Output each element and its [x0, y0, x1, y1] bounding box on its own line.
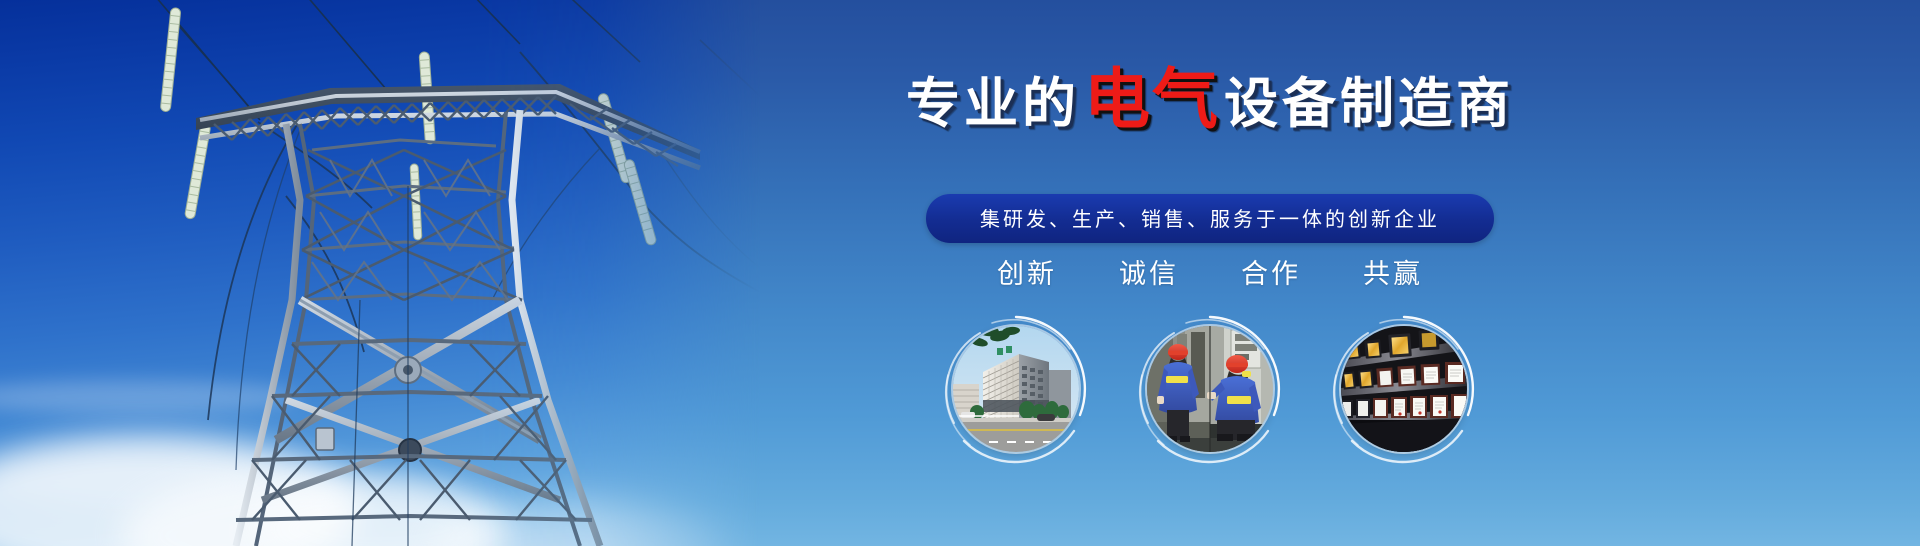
- subtitle-row: 集研发、生产、销售、服务于一体的创新企业: [660, 194, 1760, 243]
- headline-part-2: 设备制造商: [1224, 74, 1514, 134]
- keyword-win-win: 共赢: [1363, 252, 1423, 291]
- office-building-photo[interactable]: [953, 326, 1079, 452]
- headline-highlight: 电气: [1080, 62, 1224, 136]
- workers-installation-photo[interactable]: [1147, 326, 1273, 452]
- headline-part-1: 专业的: [906, 74, 1080, 134]
- keyword-innovation: 创新: [997, 252, 1057, 291]
- transmission-tower-photo: [0, 0, 760, 546]
- hero-content: 专业的电气设备制造商 集研发、生产、销售、服务于一体的创新企业 创新 诚信 合作…: [660, 0, 1920, 546]
- photo-disc: [953, 326, 1079, 452]
- page-title: 专业的电气设备制造商: [660, 66, 1760, 132]
- photo-disc: [1147, 326, 1273, 452]
- keyword-cooperation: 合作: [1241, 252, 1301, 291]
- photo-disc: [1341, 326, 1467, 452]
- banner-hero: 专业的电气设备制造商 集研发、生产、销售、服务于一体的创新企业 创新 诚信 合作…: [0, 0, 1920, 546]
- electricity-pylon-icon: [0, 0, 760, 546]
- keyword-integrity: 诚信: [1119, 252, 1179, 291]
- subtitle-pill: 集研发、生产、销售、服务于一体的创新企业: [926, 194, 1494, 243]
- keyword-row: 创新 诚信 合作 共赢: [660, 252, 1760, 291]
- photo-circle-row: [660, 318, 1760, 528]
- certificates-wall-photo[interactable]: [1341, 326, 1467, 452]
